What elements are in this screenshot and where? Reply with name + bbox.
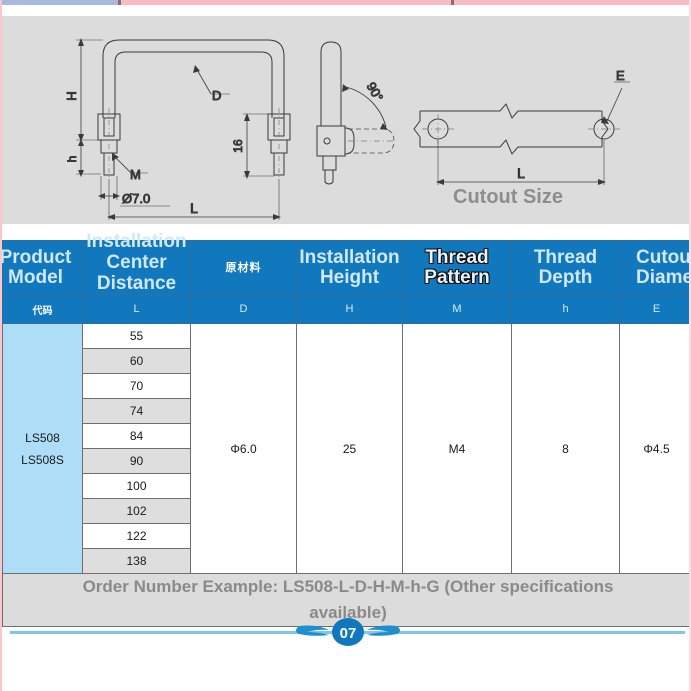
symbol-cutout-diameter: E bbox=[620, 295, 691, 324]
cell-center-distance: 102 bbox=[83, 499, 191, 524]
symbol-center-distance: L bbox=[83, 295, 191, 324]
cell-center-distance: 55 bbox=[83, 324, 191, 349]
leader-E bbox=[601, 82, 630, 124]
header-thread-depth: Thread Depth bbox=[512, 241, 620, 295]
dim-label-angle: 90° bbox=[363, 79, 386, 104]
dim-16 bbox=[243, 113, 274, 179]
cutout-plate-left-break bbox=[414, 111, 420, 147]
header-install-center-distance: Installation Center Distance bbox=[83, 241, 191, 295]
cell-install-height: 25 bbox=[297, 324, 403, 574]
label-M: M bbox=[130, 167, 141, 182]
symbol-thread-depth: h bbox=[512, 295, 620, 324]
page-footer: 07 bbox=[2, 616, 691, 650]
cutout-plate-bottom bbox=[420, 140, 602, 154]
side-stud-shoulder bbox=[323, 156, 336, 170]
table-row: LS508 LS508S 55 Φ6.0 25 M4 8 Φ4.5 bbox=[3, 324, 691, 349]
strip-segment-pink-1 bbox=[121, 0, 451, 5]
side-arm bbox=[321, 42, 341, 126]
handle-inner-profile bbox=[115, 52, 272, 118]
table-header-row-symbol: 代码 L D H M h E bbox=[3, 295, 691, 324]
dim-label-L-cutout: L bbox=[517, 165, 525, 181]
dim-label-H: H bbox=[64, 91, 79, 100]
symbol-raw-material: D bbox=[191, 295, 297, 324]
specification-table: Product Model Installation Center Distan… bbox=[2, 240, 691, 627]
cell-product-model: LS508 LS508S bbox=[3, 324, 83, 574]
cell-center-distance: 74 bbox=[83, 399, 191, 424]
cell-center-distance: 90 bbox=[83, 449, 191, 474]
cell-center-distance: 138 bbox=[83, 549, 191, 574]
dim-label-h: h bbox=[65, 156, 79, 163]
cell-center-distance: 122 bbox=[83, 524, 191, 549]
badge-ornament-right bbox=[367, 626, 400, 636]
cell-center-distance: 70 bbox=[83, 374, 191, 399]
model-line-2: LS508S bbox=[3, 449, 82, 471]
header-install-height: Installation Height bbox=[297, 241, 403, 295]
side-pivot-hole bbox=[324, 138, 330, 144]
page-number-text: 07 bbox=[339, 625, 356, 642]
dim-label-16: 16 bbox=[231, 139, 245, 153]
model-line-1: LS508 bbox=[3, 427, 82, 449]
technical-drawing-panel: H h 16 bbox=[2, 16, 691, 224]
badge-ornament-left bbox=[296, 626, 329, 636]
label-D: D bbox=[212, 88, 221, 103]
catalog-page: H h 16 bbox=[0, 0, 691, 691]
cell-center-distance: 100 bbox=[83, 474, 191, 499]
symbol-product-model: 代码 bbox=[3, 295, 83, 324]
strip-segment-pink-2 bbox=[454, 0, 691, 5]
side-folded-ghost bbox=[348, 129, 396, 153]
specification-table-wrapper: Product Model Installation Center Distan… bbox=[2, 240, 691, 627]
cell-thread-pattern: M4 bbox=[403, 324, 512, 574]
cell-material-diameter: Φ6.0 bbox=[191, 324, 297, 574]
cell-cutout-diameter: Φ4.5 bbox=[620, 324, 691, 574]
header-thread-pattern: Thread Pattern bbox=[403, 241, 512, 295]
cutout-size-caption: Cutout Size bbox=[453, 186, 563, 208]
header-raw-material: 原材料 bbox=[191, 241, 297, 295]
table-body: LS508 LS508S 55 Φ6.0 25 M4 8 Φ4.5 60 70 … bbox=[3, 324, 691, 627]
dim-h bbox=[76, 139, 101, 177]
dim-H bbox=[76, 38, 103, 142]
strip-segment-blue bbox=[2, 0, 118, 5]
table-header-row-title: Product Model Installation Center Distan… bbox=[3, 241, 691, 295]
side-stud-tip bbox=[325, 170, 333, 184]
page-number-badge: 07 bbox=[289, 616, 407, 650]
drawing-svg: H h 16 bbox=[2, 16, 691, 224]
header-cutout-diameter: Cutout Diameter bbox=[620, 241, 691, 295]
cell-center-distance: 84 bbox=[83, 424, 191, 449]
cutout-plate-top bbox=[420, 104, 602, 118]
top-strip bbox=[2, 0, 691, 5]
symbol-install-height: H bbox=[297, 295, 403, 324]
cell-center-distance: 60 bbox=[83, 349, 191, 374]
dim-label-L-front: L bbox=[190, 200, 198, 216]
label-E: E bbox=[616, 68, 625, 83]
dim-label-hole-diameter: Ø7.0 bbox=[122, 191, 150, 206]
symbol-thread-pattern: M bbox=[403, 295, 512, 324]
header-product-model: Product Model bbox=[3, 241, 83, 295]
order-note-line-1: Order Number Example: LS508-L-D-H-M-h-G … bbox=[83, 577, 614, 596]
side-pivot-body bbox=[317, 126, 345, 156]
cell-thread-depth: 8 bbox=[512, 324, 620, 574]
